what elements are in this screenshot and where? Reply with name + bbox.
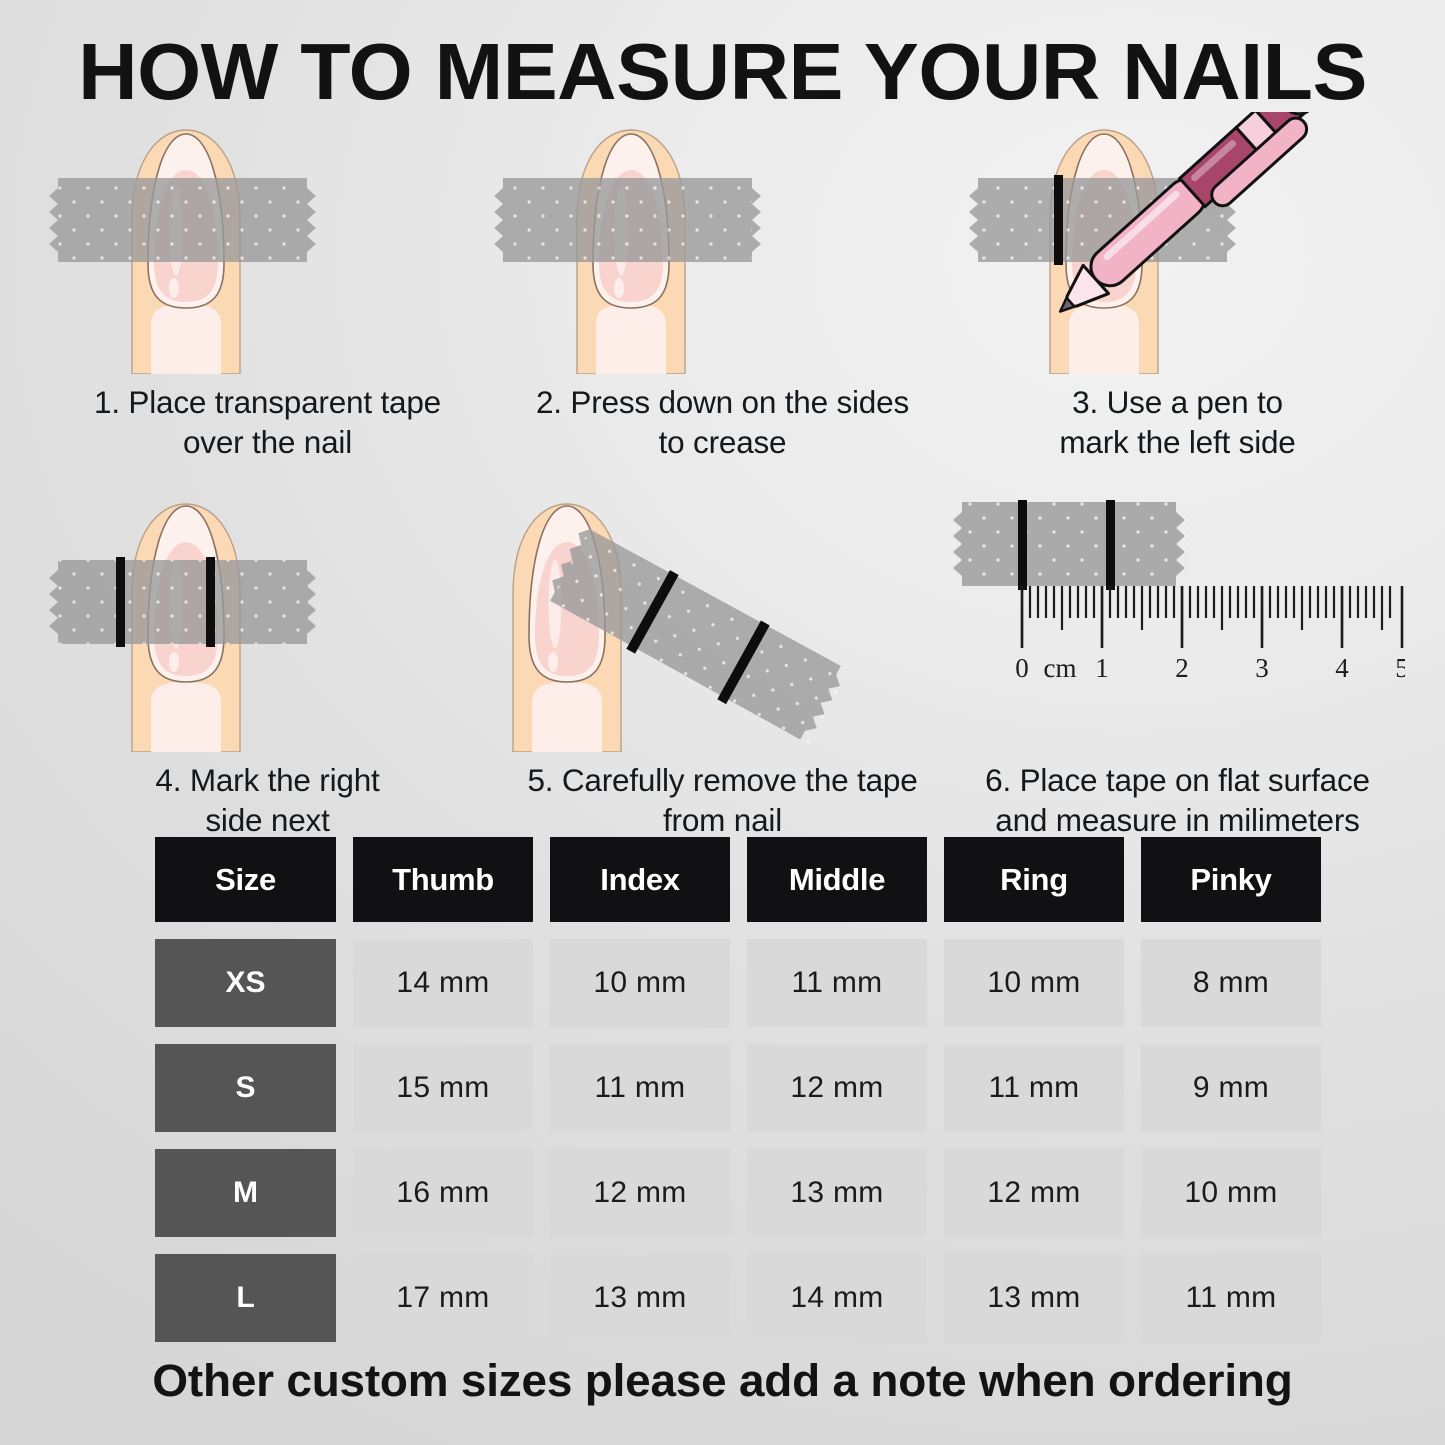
ruler <box>1022 586 1402 648</box>
cell-s-middle: 12 mm <box>747 1044 927 1132</box>
cell-s-pinky: 9 mm <box>1141 1044 1321 1132</box>
step-4-caption-line2: side next <box>52 800 483 840</box>
size-label-s: S <box>155 1044 336 1132</box>
left-mark <box>116 557 125 647</box>
cell-s-thumb: 15 mm <box>353 1044 533 1132</box>
ruler-tick-4: 4 <box>1335 653 1349 683</box>
table-header-thumb: Thumb <box>353 837 533 922</box>
step-1-caption-line1: 1. Place transparent tape <box>52 382 483 422</box>
table-row: M 16 mm 12 mm 13 mm 12 mm 10 mm <box>155 1149 1323 1237</box>
cell-m-middle: 13 mm <box>747 1149 927 1237</box>
step-3-illustration <box>950 112 1405 374</box>
cell-l-middle: 14 mm <box>747 1254 927 1342</box>
cell-xs-index: 10 mm <box>550 939 730 1027</box>
step-3-caption: 3. Use a pen to mark the left side <box>950 382 1405 462</box>
ruler-tick-2: 2 <box>1175 653 1189 683</box>
step-4-caption: 4. Mark the right side next <box>40 760 495 840</box>
infographic-page: HOW TO MEASURE YOUR NAILS <box>0 0 1445 1445</box>
step-5-caption: 5. Carefully remove the tape from nail <box>495 760 950 840</box>
tape-strip <box>953 502 1185 586</box>
step-3-caption-line1: 3. Use a pen to <box>962 382 1393 422</box>
cell-xs-ring: 10 mm <box>944 939 1124 1027</box>
ruler-labels: 0 cm 1 2 3 4 5 <box>1015 653 1405 683</box>
ruler-tick-1: 1 <box>1095 653 1109 683</box>
step-5-caption-line1: 5. Carefully remove the tape <box>507 760 938 800</box>
step-3: 3. Use a pen to mark the left side <box>950 112 1405 462</box>
step-2-caption-line1: 2. Press down on the sides <box>507 382 938 422</box>
steps-grid: 1. Place transparent tape over the nail <box>40 112 1405 840</box>
step-2-illustration <box>495 112 950 374</box>
step-5-illustration <box>495 484 950 752</box>
steps-row-top: 1. Place transparent tape over the nail <box>40 112 1405 462</box>
cell-xs-pinky: 8 mm <box>1141 939 1321 1027</box>
right-mark <box>1106 500 1115 590</box>
cell-s-ring: 11 mm <box>944 1044 1124 1132</box>
cell-m-index: 12 mm <box>550 1149 730 1237</box>
cell-s-index: 11 mm <box>550 1044 730 1132</box>
step-1: 1. Place transparent tape over the nail <box>40 112 495 462</box>
cell-l-index: 13 mm <box>550 1254 730 1342</box>
table-header-size: Size <box>155 837 336 922</box>
size-chart-table: Size Thumb Index Middle Ring Pinky XS 14… <box>155 837 1323 1359</box>
right-mark <box>206 557 215 647</box>
step-2: 2. Press down on the sides to crease <box>495 112 950 462</box>
step-3-caption-line2: mark the left side <box>962 422 1393 462</box>
custom-size-note: Other custom sizes please add a note whe… <box>0 1355 1445 1407</box>
table-header-middle: Middle <box>747 837 927 922</box>
step-6: 0 cm 1 2 3 4 5 6. Place tape on flat <box>950 484 1405 840</box>
step-5-caption-line2: from nail <box>507 800 938 840</box>
step-1-illustration <box>40 112 495 374</box>
cell-m-ring: 12 mm <box>944 1149 1124 1237</box>
table-row: S 15 mm 11 mm 12 mm 11 mm 9 mm <box>155 1044 1323 1132</box>
step-4-illustration <box>40 484 495 752</box>
step-6-caption: 6. Place tape on flat surface and measur… <box>950 760 1405 840</box>
page-title: HOW TO MEASURE YOUR NAILS <box>0 26 1445 118</box>
table-row: XS 14 mm 10 mm 11 mm 10 mm 8 mm <box>155 939 1323 1027</box>
left-mark <box>1054 175 1063 265</box>
table-row: L 17 mm 13 mm 14 mm 13 mm 11 mm <box>155 1254 1323 1342</box>
ruler-tick-3: 3 <box>1255 653 1269 683</box>
size-label-m: M <box>155 1149 336 1237</box>
cell-m-pinky: 10 mm <box>1141 1149 1321 1237</box>
step-6-caption-line2: and measure in milimeters <box>962 800 1393 840</box>
tape-strip <box>49 178 316 262</box>
table-header-row: Size Thumb Index Middle Ring Pinky <box>155 837 1323 922</box>
tape-strip <box>49 560 316 644</box>
ruler-tick-0: 0 <box>1015 653 1029 683</box>
step-6-illustration: 0 cm 1 2 3 4 5 <box>950 484 1405 752</box>
size-label-l: L <box>155 1254 336 1342</box>
cell-l-thumb: 17 mm <box>353 1254 533 1342</box>
left-mark <box>1018 500 1027 590</box>
cell-l-ring: 13 mm <box>944 1254 1124 1342</box>
cell-l-pinky: 11 mm <box>1141 1254 1321 1342</box>
step-1-caption-line2: over the nail <box>52 422 483 462</box>
step-4-caption-line1: 4. Mark the right <box>52 760 483 800</box>
steps-row-bottom: 4. Mark the right side next <box>40 484 1405 840</box>
step-1-caption: 1. Place transparent tape over the nail <box>40 382 495 462</box>
step-5: 5. Carefully remove the tape from nail <box>495 484 950 840</box>
table-header-index: Index <box>550 837 730 922</box>
step-2-caption-line2: to crease <box>507 422 938 462</box>
cell-xs-thumb: 14 mm <box>353 939 533 1027</box>
tape-strip <box>495 178 761 262</box>
table-header-ring: Ring <box>944 837 1124 922</box>
size-label-xs: XS <box>155 939 336 1027</box>
ruler-unit-label: cm <box>1044 653 1077 683</box>
ruler-tick-5: 5 <box>1395 653 1405 683</box>
step-2-caption: 2. Press down on the sides to crease <box>495 382 950 462</box>
cell-m-thumb: 16 mm <box>353 1149 533 1237</box>
step-4: 4. Mark the right side next <box>40 484 495 840</box>
cell-xs-middle: 11 mm <box>747 939 927 1027</box>
step-6-caption-line1: 6. Place tape on flat surface <box>962 760 1393 800</box>
table-header-pinky: Pinky <box>1141 837 1321 922</box>
